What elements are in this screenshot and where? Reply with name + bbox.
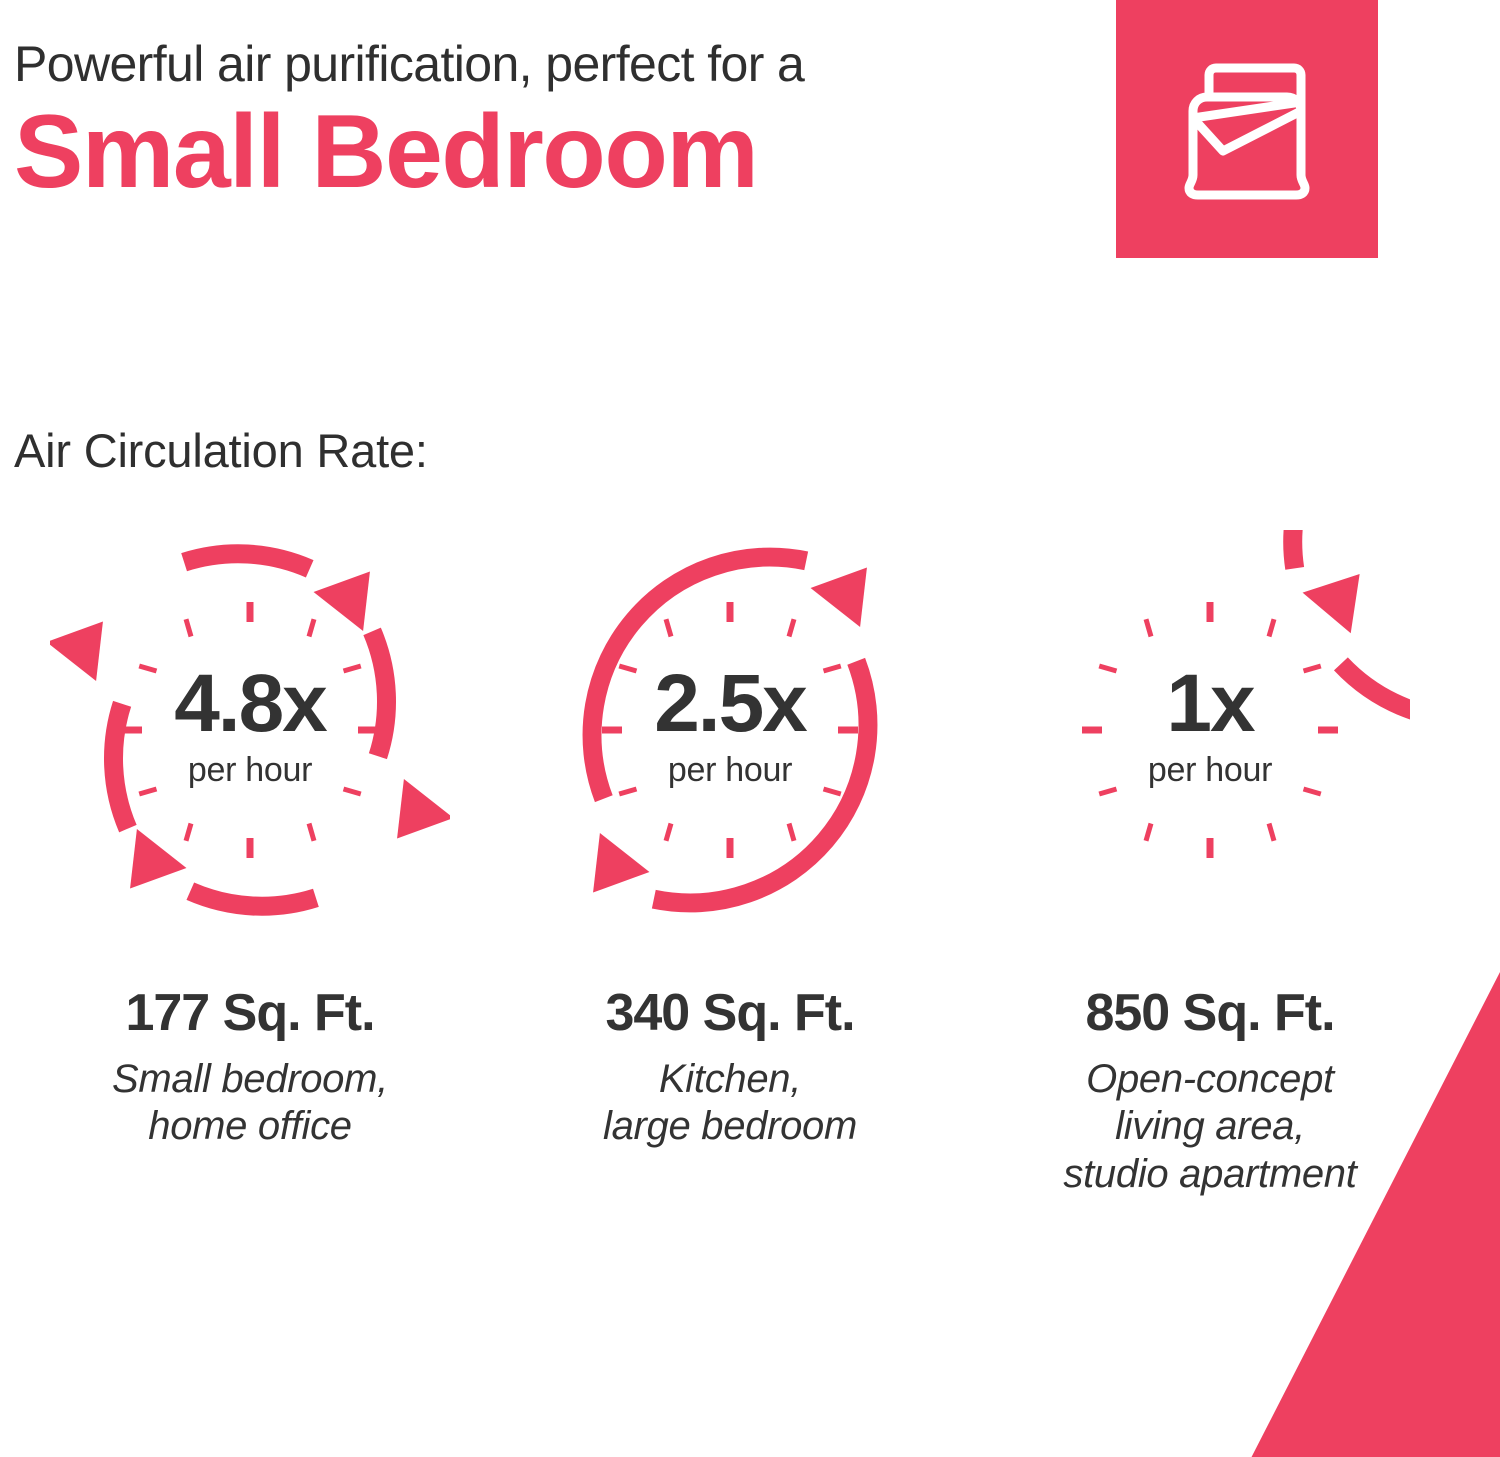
clock-ticks-3: [1082, 602, 1338, 858]
page-title: Small Bedroom: [14, 97, 1074, 207]
clock-ticks-1: [122, 602, 378, 858]
area-description-1: Small bedroom, home office: [10, 1056, 490, 1150]
dial-row: 4.8x per hour: [0, 530, 1500, 960]
area-label-1: 177 Sq. Ft.: [10, 985, 490, 1042]
area-description-1-line1: Small bedroom,: [10, 1056, 490, 1103]
headline-block: Powerful air purification, perfect for a…: [14, 38, 1074, 207]
headline-eyebrow: Powerful air purification, perfect for a: [14, 38, 1074, 91]
dial-column-2: 2.5x per hour: [490, 530, 970, 960]
corner-accent-triangle: [1240, 960, 1500, 1457]
dial-column-3: 1x per hour: [970, 530, 1450, 960]
area-label-2: 340 Sq. Ft.: [490, 985, 970, 1042]
air-change-dial-340: 2.5x per hour: [530, 530, 930, 930]
label-column-2: 340 Sq. Ft. Kitchen, large bedroom: [490, 985, 970, 1198]
arrow-heads-3: [1303, 554, 1385, 635]
bed-icon-tile: [1116, 0, 1378, 258]
clock-ticks-2: [602, 602, 858, 858]
air-change-dial-850: 1x per hour: [1010, 530, 1410, 930]
dial-column-1: 4.8x per hour: [10, 530, 490, 960]
infographic-canvas: Powerful air purification, perfect for a…: [0, 0, 1500, 1457]
area-description-1-line2: home office: [10, 1103, 490, 1150]
air-change-dial-177: 4.8x per hour: [50, 530, 450, 930]
label-column-1: 177 Sq. Ft. Small bedroom, home office: [10, 985, 490, 1198]
area-description-2: Kitchen, large bedroom: [490, 1056, 970, 1150]
area-description-2-line2: large bedroom: [490, 1103, 970, 1150]
section-title: Air Circulation Rate:: [14, 423, 428, 478]
area-description-2-line1: Kitchen,: [490, 1056, 970, 1103]
